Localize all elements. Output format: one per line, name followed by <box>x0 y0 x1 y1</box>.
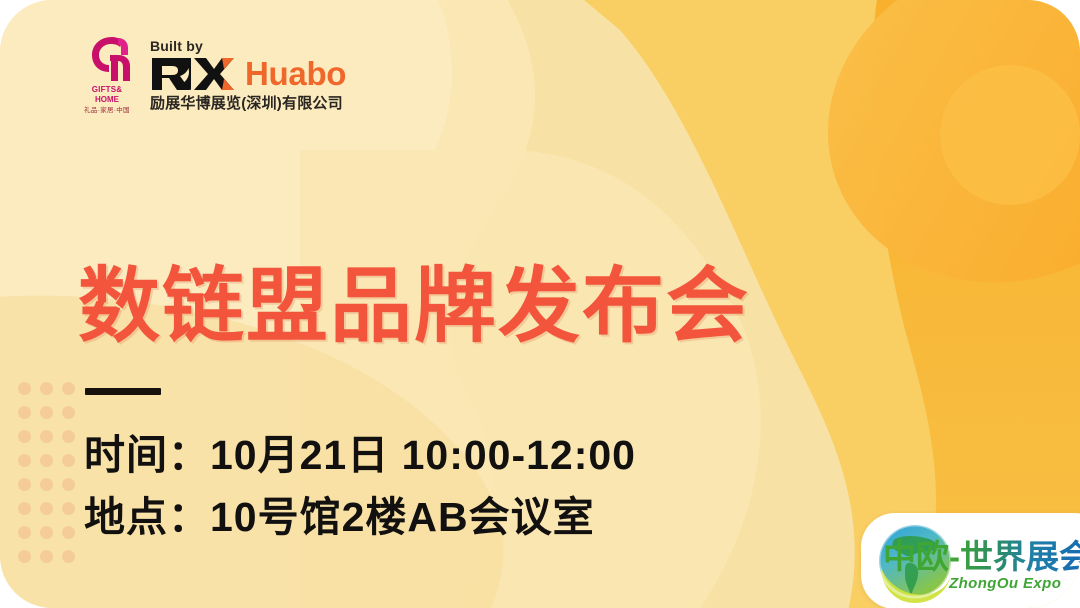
decorative-dot <box>62 430 75 443</box>
decorative-dot <box>62 478 75 491</box>
gifts-and-home-logo: GIFTS& HOME 礼品·家居·中国 <box>78 34 136 118</box>
title-divider <box>85 388 161 395</box>
decorative-dot <box>62 406 75 419</box>
header-logos: GIFTS& HOME 礼品·家居·中国 Built by Huabo 励展华博… <box>78 34 346 118</box>
decorative-dot <box>40 382 53 395</box>
decorative-dot <box>62 526 75 539</box>
page-title: 数链盟品牌发布会 <box>78 258 750 356</box>
decorative-dot <box>40 478 53 491</box>
decorative-dot <box>18 454 31 467</box>
expo-name-cn: 中欧-世界展会 <box>883 538 1080 576</box>
decorative-dot <box>62 382 75 395</box>
decorative-dot <box>18 526 31 539</box>
expo-badge: 中欧-世界展会 ZhongOu Expo <box>861 513 1080 608</box>
decorative-dot <box>62 454 75 467</box>
company-name-cn: 励展华博展览(深圳)有限公司 <box>150 95 346 113</box>
gh-line-3: 礼品·家居·中国 <box>84 106 130 115</box>
decorative-dot <box>18 406 31 419</box>
decorative-dot <box>40 526 53 539</box>
event-details: 时间：10月21日 10:00-12:00 地点：10号馆2楼AB会议室 <box>84 424 636 548</box>
decorative-dot <box>40 406 53 419</box>
decorative-dot <box>40 550 53 563</box>
event-promo-banner: GIFTS& HOME 礼品·家居·中国 Built by Huabo 励展华博… <box>0 0 1080 608</box>
decorative-dot <box>40 454 53 467</box>
decorative-dot <box>18 382 31 395</box>
decorative-dot <box>18 430 31 443</box>
decorative-dot <box>40 502 53 515</box>
decorative-dot <box>62 502 75 515</box>
rx-mark-icon <box>150 56 236 92</box>
gh-line-2: HOME <box>95 95 119 105</box>
gh-monogram-icon <box>80 34 134 84</box>
huabo-brand-name: Huabo <box>245 57 346 91</box>
decorative-dot-grid <box>18 382 84 572</box>
event-venue-line: 地点：10号馆2楼AB会议室 <box>84 486 636 548</box>
decorative-dot <box>40 430 53 443</box>
gh-line-1: GIFTS& <box>92 85 123 95</box>
decorative-dot <box>18 502 31 515</box>
expo-name-en: ZhongOu Expo <box>949 575 1061 592</box>
event-time-line: 时间：10月21日 10:00-12:00 <box>84 424 636 486</box>
decorative-dot <box>18 478 31 491</box>
built-by-label: Built by <box>150 38 346 54</box>
blob-orange-circle-small <box>940 65 1080 205</box>
decorative-dot <box>62 550 75 563</box>
decorative-dot <box>18 550 31 563</box>
rx-huabo-logo: Built by Huabo 励展华博展览(深圳)有限公司 <box>150 34 346 113</box>
